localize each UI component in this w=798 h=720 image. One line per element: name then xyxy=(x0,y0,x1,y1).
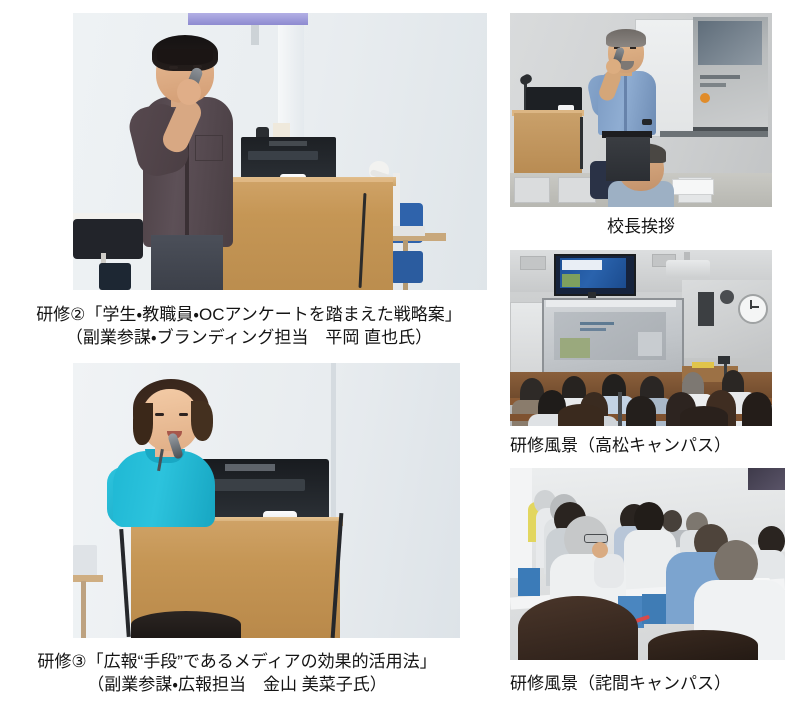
blue-chair-2 xyxy=(391,251,423,283)
black-bag xyxy=(73,219,143,259)
foreground-head-b xyxy=(680,406,728,426)
presenter-eye-left xyxy=(155,413,164,416)
hanging-cable xyxy=(580,117,583,169)
presenter-hair-right xyxy=(191,401,213,441)
training-3-caption-line1: 研修③「広報“手段”であるメディアの効果的活用法」 xyxy=(0,650,474,673)
principal-greeting-photo xyxy=(510,13,772,207)
monitor-slide-title xyxy=(562,260,602,270)
clock-minute-hand xyxy=(750,306,759,308)
foreground-head-a xyxy=(558,404,604,426)
foreground-audience-head xyxy=(131,611,241,638)
training-2-caption-line2: （副業参謀・ブランディング担当 平岡 直也氏） xyxy=(0,326,498,349)
side-table xyxy=(73,575,103,582)
training-scene-takuma-caption-line1: 研修風景（詫間キャンパス） xyxy=(510,672,785,695)
audience-head-12 xyxy=(742,392,772,426)
monitor-bezel-slot xyxy=(248,151,318,160)
shirt-placket xyxy=(624,75,627,133)
chair-a xyxy=(514,177,550,203)
projection-screen-corner xyxy=(748,468,785,490)
ceiling-speaker xyxy=(720,290,734,304)
desk-nameplate xyxy=(672,179,714,195)
training-scene-takamatsu-caption: 研修風景（高松キャンパス） xyxy=(510,434,772,457)
principal-greeting-caption: 校長挨拶 xyxy=(510,215,772,238)
ceiling-vent-1 xyxy=(520,256,546,270)
wall-clock xyxy=(738,294,768,324)
photo-report-page: 研修②「学生・教職員・OCアンケートを踏まえた戦略案」 （副業参謀・ブランディン… xyxy=(0,0,798,720)
screen-slide-photo-2 xyxy=(638,332,662,356)
training-scene-takuma-photo xyxy=(510,468,785,660)
aisle-railing xyxy=(618,392,622,426)
audience-head-9 xyxy=(626,396,656,426)
training-scene-takamatsu-photo xyxy=(510,250,772,426)
slide-text-line-1 xyxy=(700,75,740,79)
presenter-eye-right xyxy=(179,413,188,416)
side-table-leg xyxy=(81,581,86,638)
whiteboard-left xyxy=(510,302,544,374)
principal-hair xyxy=(606,29,646,47)
principal-hand xyxy=(606,59,621,74)
presenter-hair-left xyxy=(133,403,153,445)
wrist-watch xyxy=(642,119,652,125)
camera-head xyxy=(718,356,730,364)
audience-hand-d xyxy=(592,542,608,558)
training-2-caption: 研修②「学生・教職員・OCアンケートを踏まえた戦略案」 （副業参謀・ブランディン… xyxy=(0,303,498,350)
principal-greeting-caption-line1: 校長挨拶 xyxy=(510,215,772,238)
training-scene-takamatsu-caption-line1: 研修風景（高松キャンパス） xyxy=(510,434,772,457)
foreground-head-1 xyxy=(518,596,638,660)
screen-slide-title xyxy=(580,322,614,325)
principal-eye-right xyxy=(630,47,636,49)
monitor-slide-photo xyxy=(562,274,580,287)
slide-logo xyxy=(700,93,710,103)
monitor-logo xyxy=(269,141,307,146)
ceiling-projector xyxy=(666,260,710,278)
principal-trousers xyxy=(606,137,650,181)
screen-slide-subtitle xyxy=(580,328,606,331)
blue-chair-1 xyxy=(518,568,540,596)
audience-head-g xyxy=(662,510,682,532)
wooden-podium xyxy=(514,113,582,175)
training-2-presenter-photo xyxy=(73,13,487,290)
presenter-trousers xyxy=(151,235,223,290)
training-2-caption-line1: 研修②「学生・教職員・OCアンケートを踏まえた戦略案」 xyxy=(0,303,498,326)
yellow-box xyxy=(692,362,714,368)
foreground-head-2 xyxy=(648,630,758,660)
background-monitor xyxy=(73,545,97,577)
training-3-presenter-photo xyxy=(73,363,460,638)
screen-app-toolbar xyxy=(546,300,676,307)
ceiling-display xyxy=(188,13,308,25)
screen-slide-photo-1 xyxy=(560,338,590,358)
training-scene-takuma-caption: 研修風景（詫間キャンパス） xyxy=(510,672,785,695)
chair-left xyxy=(99,263,131,290)
monitor-brand-logo xyxy=(225,464,275,471)
presenter-hair-fringe xyxy=(157,49,213,65)
presenter-eye-left xyxy=(169,66,178,69)
presenter-hand xyxy=(177,79,201,105)
training-3-caption-line2: （副業参謀・広報担当 金山 美菜子氏） xyxy=(0,673,474,696)
slide-photo xyxy=(698,21,762,65)
training-3-caption: 研修③「広報“手段”であるメディアの効果的活用法」 （副業参謀・広報担当 金山 … xyxy=(0,650,474,697)
display-mount xyxy=(251,25,259,45)
board-tray xyxy=(660,131,768,137)
wall-speaker xyxy=(698,292,714,326)
slide-text-line-2 xyxy=(700,83,726,87)
audience-arm-d xyxy=(594,554,624,588)
shirt-pocket xyxy=(195,135,223,161)
